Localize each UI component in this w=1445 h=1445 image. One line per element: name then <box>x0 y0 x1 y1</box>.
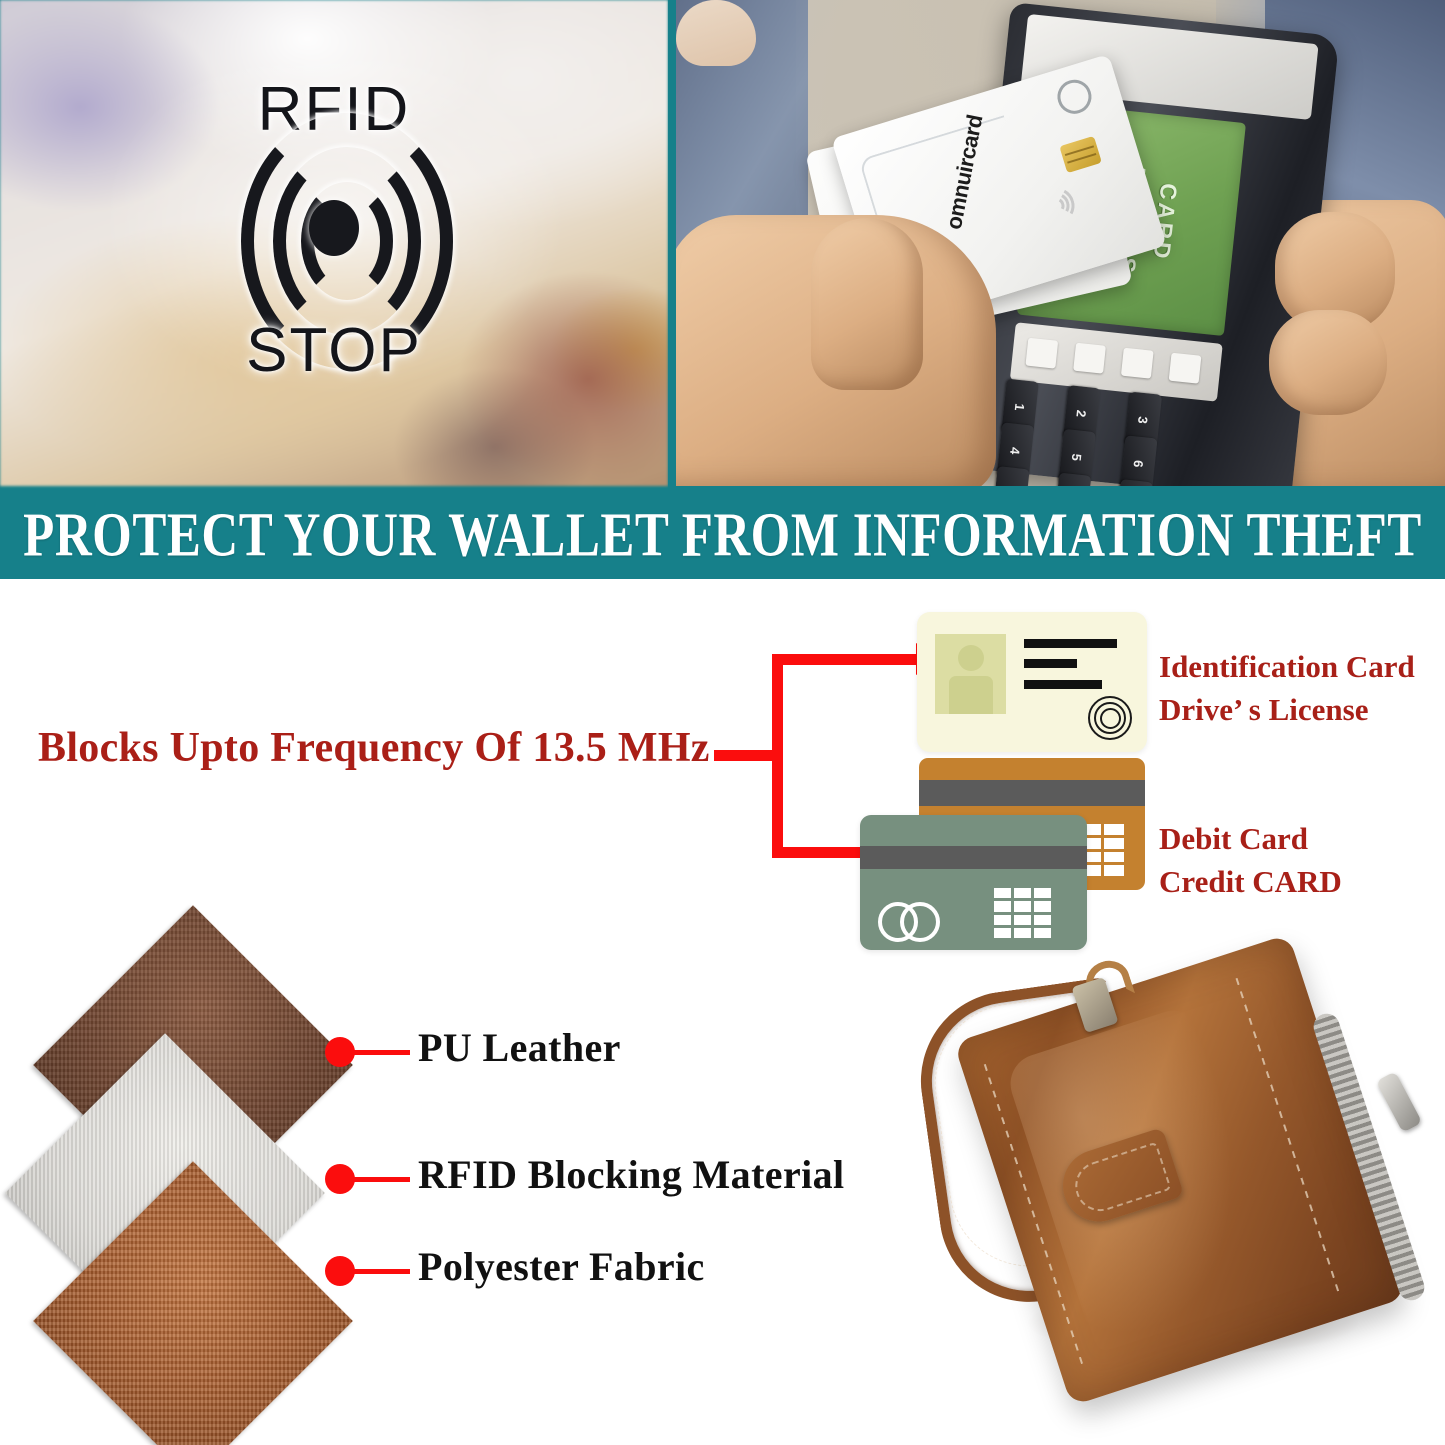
identification-card-graphic <box>917 612 1147 752</box>
payment-card-label-line1: Debit Card <box>1159 818 1342 861</box>
customer-thumbnail <box>676 0 756 66</box>
rfid-blocking-label: RFID Blocking Material <box>418 1151 845 1198</box>
debit-card-graphic <box>860 815 1087 950</box>
rfid-stop-logo: RFID STOP <box>184 78 484 378</box>
infographic-page: RFID STOP CARDACCESSDENIED <box>0 0 1445 1445</box>
identification-card-label: Identification Card Drive’ s License <box>1159 646 1415 732</box>
id-text-line-3 <box>1024 680 1102 689</box>
connector-branch-top <box>772 654 924 665</box>
pu-leather-label: PU Leather <box>418 1024 621 1071</box>
pos-softkey-2 <box>1073 343 1106 374</box>
payment-card-label-line2: Credit CARD <box>1159 861 1342 904</box>
pos-softkey-1 <box>1025 338 1058 369</box>
id-text-line-2 <box>1024 659 1077 668</box>
id-person-head-icon <box>958 645 984 671</box>
top-photo-strip: RFID STOP CARDACCESSDENIED <box>0 0 1445 492</box>
photo-divider <box>668 0 676 492</box>
connector-stem <box>714 750 780 761</box>
identification-card-label-line2: Drive’ s License <box>1159 689 1415 732</box>
id-text-line-1 <box>1024 639 1117 648</box>
wallet-product-photo <box>918 955 1438 1425</box>
cashier-finger-2 <box>1269 310 1387 415</box>
id-rfid-chip-icon <box>1088 696 1128 736</box>
pos-key-7: 7 <box>992 466 1029 486</box>
pos-key-8: 8 <box>1054 473 1091 486</box>
wallet-zipper-pull <box>1376 1071 1423 1133</box>
pos-softkey-4 <box>1169 353 1202 384</box>
id-photo-placeholder <box>935 634 1006 714</box>
frequency-text: Blocks Upto Frequency Of 13.5 MHz <box>38 724 710 772</box>
customer-thumb <box>811 218 923 390</box>
payment-card-label: Debit Card Credit CARD <box>1159 818 1342 904</box>
callout-dot-rfid-blocking <box>325 1164 355 1194</box>
callout-line-pu-leather <box>352 1050 410 1055</box>
callout-line-rfid-blocking <box>352 1177 410 1182</box>
credit-card-magstripe <box>919 780 1145 806</box>
pos-keypad: 1 2 3 4 5 6 7 8 9 0 <box>977 388 1225 486</box>
dual-circle-logo-icon <box>878 902 936 934</box>
debit-card-grid <box>994 888 1051 938</box>
callout-line-polyester <box>352 1269 410 1274</box>
callout-dot-pu-leather <box>325 1037 355 1067</box>
id-person-body-icon <box>949 676 993 714</box>
pos-softkey-3 <box>1121 348 1154 379</box>
connector-vertical <box>772 654 783 858</box>
polyester-fabric-label: Polyester Fabric <box>418 1243 705 1290</box>
rfid-logo-bottom-text: STOP <box>184 315 484 386</box>
contactless-wave-icon <box>1044 182 1081 219</box>
rfid-center-dot <box>309 200 359 256</box>
headline-banner: PROTECT YOUR WALLET FROM INFORMATION THE… <box>0 492 1445 579</box>
identification-card-label-line1: Identification Card <box>1159 646 1415 689</box>
pos-terminal-photo: CARDACCESSDENIED 1 2 3 4 5 6 7 8 <box>676 0 1445 486</box>
headline-text: PROTECT YOUR WALLET FROM INFORMATION THE… <box>23 500 1422 571</box>
callout-dot-polyester <box>325 1256 355 1286</box>
pos-soft-keys <box>1010 322 1223 401</box>
card-ring-logo <box>1053 76 1095 118</box>
debit-card-magstripe <box>860 846 1087 869</box>
pos-key-6: 6 <box>1120 435 1157 486</box>
card-chip <box>1059 136 1102 173</box>
